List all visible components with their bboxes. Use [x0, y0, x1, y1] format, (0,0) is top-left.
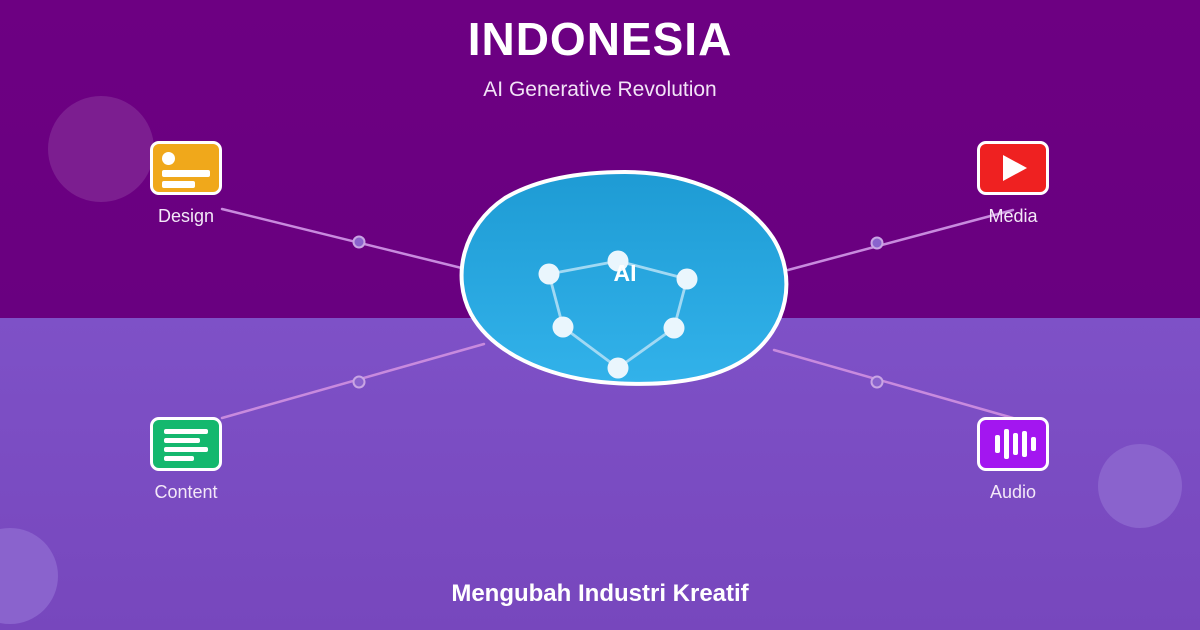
play-button-icon[interactable]	[977, 141, 1049, 195]
ai-core-blob[interactable]: AI	[455, 168, 795, 388]
blob-shape	[455, 168, 795, 388]
design-card-icon[interactable]	[150, 141, 222, 195]
network-node-upper-left	[539, 264, 560, 285]
content-icon-line-4	[164, 456, 194, 461]
network-node-upper-right	[677, 269, 698, 290]
content-icon-line-1	[164, 429, 208, 434]
content-icon-line-2	[164, 438, 200, 443]
connector-dot-design	[354, 237, 365, 248]
content-icon-line-3	[164, 447, 208, 452]
waveform-bar-4	[1022, 431, 1027, 457]
category-node-audio[interactable]: Audio	[938, 417, 1088, 503]
design-icon-dot	[162, 152, 175, 165]
category-node-design[interactable]: Design	[111, 141, 261, 227]
connector-dot-content	[354, 377, 365, 388]
play-triangle-icon	[1003, 155, 1027, 181]
category-label-design: Design	[111, 205, 261, 227]
text-lines-icon[interactable]	[150, 417, 222, 471]
waveform-bar-2	[1004, 429, 1009, 459]
connector-audio	[774, 350, 1013, 418]
infographic-canvas: INDONESIA AI Generative Revolution	[0, 0, 1200, 630]
category-label-media: Media	[938, 205, 1088, 227]
connector-dot-audio	[872, 377, 883, 388]
connector-dot-media	[872, 238, 883, 249]
category-label-audio: Audio	[938, 481, 1088, 503]
footer-tagline: Mengubah Industri Kreatif	[0, 580, 1200, 608]
network-node-bottom	[608, 358, 629, 379]
network-node-lower-left	[553, 317, 574, 338]
waveform-bar-3	[1013, 433, 1018, 455]
blob-path	[462, 172, 787, 384]
design-icon-bar-2	[162, 181, 195, 188]
waveform-bar-1	[995, 435, 1000, 453]
design-icon-bar-1	[162, 170, 210, 177]
waveform-icon[interactable]	[977, 417, 1049, 471]
category-node-content[interactable]: Content	[111, 417, 261, 503]
network-node-lower-right	[664, 318, 685, 339]
category-label-content: Content	[111, 481, 261, 503]
category-node-media[interactable]: Media	[938, 141, 1088, 227]
network-node-top	[608, 251, 629, 272]
waveform-bar-5	[1031, 437, 1036, 451]
